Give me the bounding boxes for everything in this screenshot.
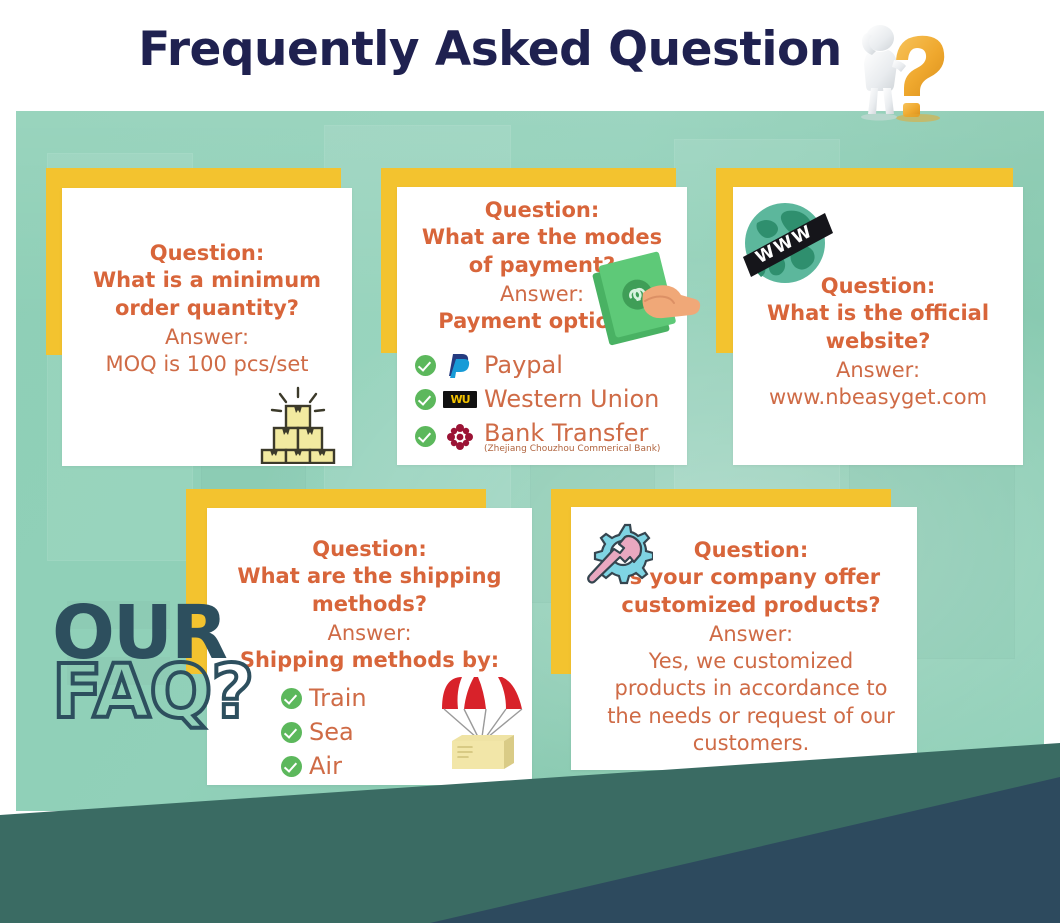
question-label: Question: (76, 240, 338, 267)
payment-option-label: Western Union (484, 385, 659, 413)
question-text: What is the official website? (747, 300, 1009, 355)
western-union-icon: WU (443, 387, 477, 411)
question-label: Question: (219, 536, 520, 563)
hand-holding-money-icon (585, 245, 703, 353)
person-with-question-mark-icon (834, 14, 984, 124)
check-icon (415, 355, 436, 376)
faq-card-official-website[interactable]: WWW Question: What is the official websi… (733, 187, 1023, 465)
answer-label: Answer: (601, 621, 901, 648)
payment-option-row[interactable]: Paypal (415, 351, 675, 379)
answer-text: Yes, we customized products in accordanc… (601, 648, 901, 757)
payment-option-row[interactable]: Bank Transfer (Zhejiang Chouzhou Commeri… (415, 419, 675, 454)
globe-www-icon: WWW (739, 195, 837, 293)
payment-options-list: Paypal WU Western Union (409, 351, 675, 454)
bank-transfer-sublabel: (Zhejiang Chouzhou Commerical Bank) (484, 445, 660, 454)
payment-option-label: Paypal (484, 351, 563, 379)
check-icon (281, 722, 302, 743)
payment-option-row[interactable]: WU Western Union (415, 385, 675, 413)
bank-transfer-label: Bank Transfer (484, 419, 648, 447)
question-text: What is a minimum order quantity? (76, 267, 338, 322)
faq-card-modes-of-payment[interactable]: Question: What are the modes of payment?… (397, 187, 687, 465)
stacked-boxes-icon (254, 386, 342, 464)
check-icon (415, 426, 436, 447)
check-icon (281, 688, 302, 709)
answer-text: www.nbeasyget.com (747, 384, 1009, 411)
answer-text: MOQ is 100 pcs/set (76, 351, 338, 378)
bottom-bands (0, 743, 1060, 923)
answer-label: Answer: (747, 357, 1009, 384)
bank-icon (443, 425, 477, 449)
question-label: Question: (409, 197, 675, 224)
question-text: What are the shipping methods? (219, 563, 520, 618)
shipping-method-label: Train (309, 684, 367, 712)
gear-wrench-icon (581, 515, 653, 587)
answer-label: Answer: (76, 324, 338, 351)
faq-card-customized-products[interactable]: Question: Is your company offer customiz… (571, 507, 917, 770)
payment-option-label: Bank Transfer (Zhejiang Chouzhou Commeri… (484, 419, 660, 454)
answer-label: Answer: (219, 620, 520, 647)
check-icon (415, 389, 436, 410)
faq-card-minimum-order-quantity[interactable]: Question: What is a minimum order quanti… (62, 188, 352, 466)
paypal-icon (443, 353, 477, 377)
faq-infographic: Frequently Asked Question (0, 0, 1060, 923)
